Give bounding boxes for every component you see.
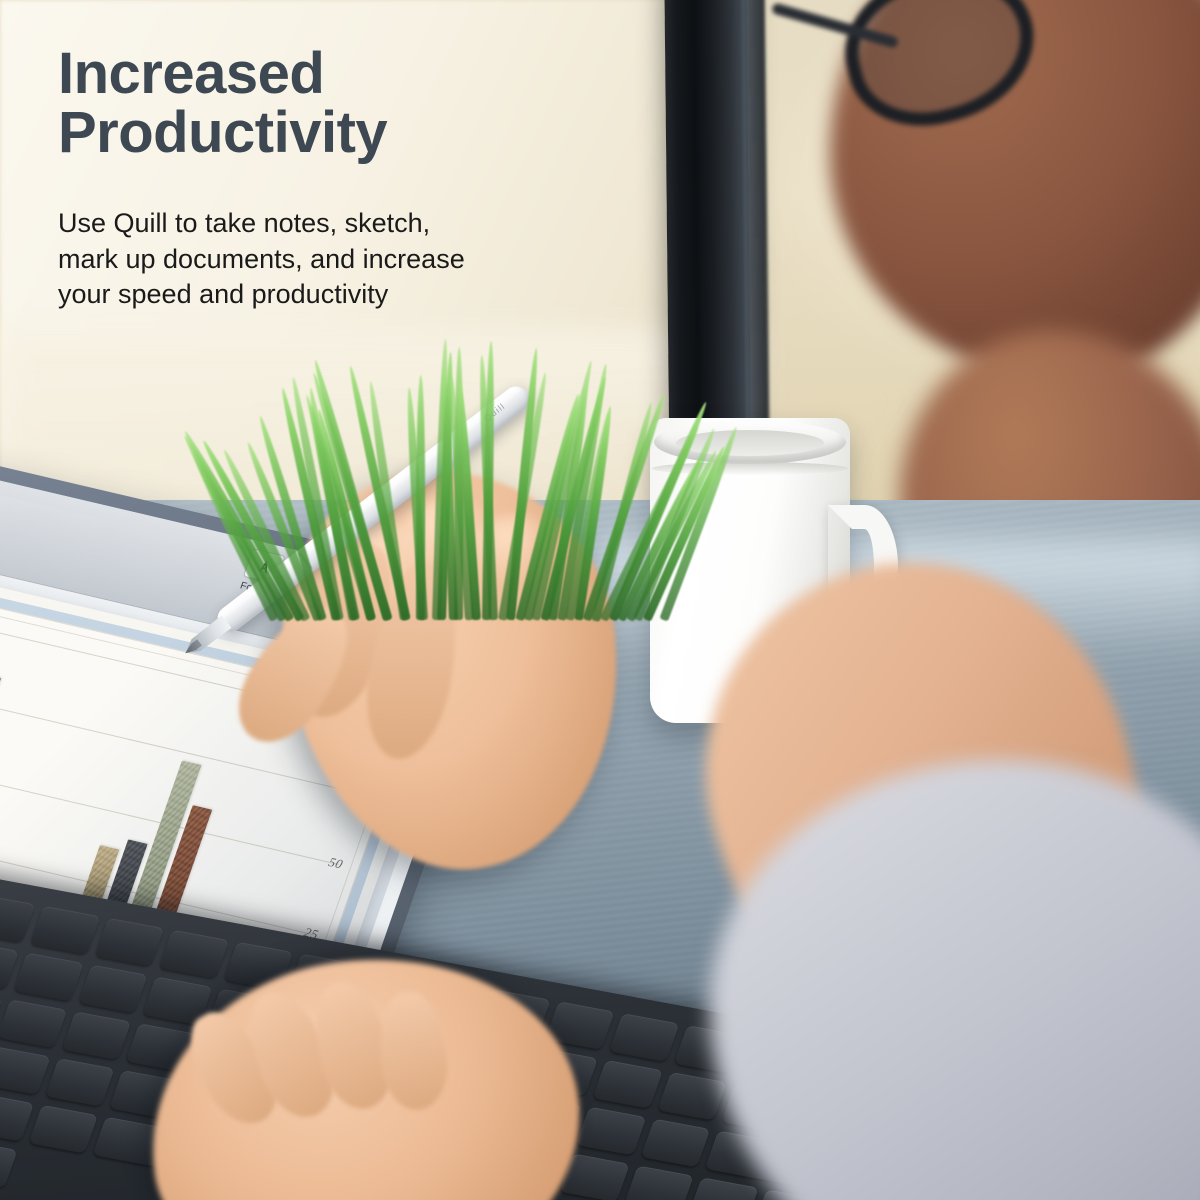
headline-line-1: Increased: [58, 44, 618, 103]
keyboard-key[interactable]: [640, 1119, 710, 1168]
keyboard-key[interactable]: [624, 1165, 694, 1200]
keyboard-key[interactable]: [0, 999, 67, 1048]
keyboard-key[interactable]: [688, 1177, 758, 1200]
keyboard-key[interactable]: [45, 1058, 115, 1107]
keyboard-key[interactable]: [28, 1105, 98, 1154]
keyboard-key[interactable]: [30, 906, 100, 955]
promotional-scene: Comment Collaborate: [0, 0, 1200, 1200]
keyboard-key[interactable]: [657, 1072, 727, 1121]
subcopy-line-3: your speed and productivity: [58, 277, 598, 313]
coffee-mug-inner-rim: [676, 430, 824, 456]
chart-bar-group: Region 1: [0, 614, 15, 917]
keyboard-key[interactable]: [576, 1107, 646, 1156]
keyboard-key[interactable]: [61, 1011, 131, 1060]
potted-grass-plant: [250, 320, 670, 620]
keyboard-key[interactable]: [78, 965, 148, 1014]
keyboard-key[interactable]: [14, 953, 84, 1002]
page-subtitle: Use Quill to take notes, sketch, mark up…: [58, 206, 598, 313]
keyboard-key[interactable]: [159, 930, 229, 979]
plant-blade: [416, 375, 425, 620]
subcopy-line-1: Use Quill to take notes, sketch,: [58, 206, 598, 242]
keyboard-key[interactable]: [0, 894, 36, 943]
headline-line-2: Productivity: [58, 103, 618, 162]
keyboard-key[interactable]: [95, 918, 165, 967]
keyboard-key[interactable]: [593, 1060, 663, 1109]
page-title: Increased Productivity: [58, 44, 618, 162]
keyboard-key[interactable]: [609, 1013, 679, 1062]
subcopy-line-2: mark up documents, and increase: [58, 242, 598, 278]
